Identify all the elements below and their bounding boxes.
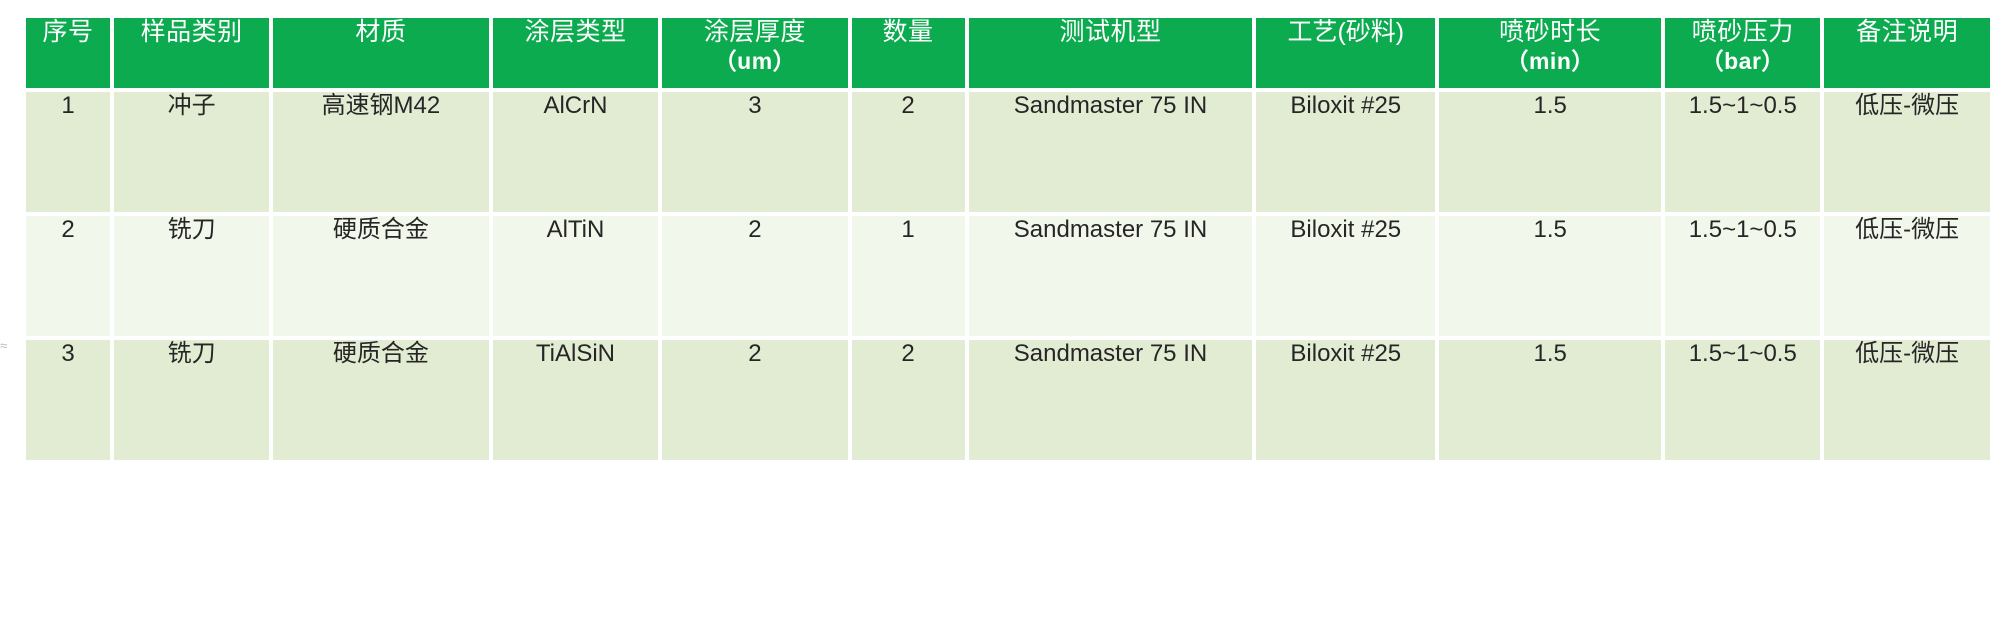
cell-test-machine[interactable]: Sandmaster 75 IN	[969, 340, 1253, 460]
cell-material[interactable]: 硬质合金	[273, 340, 489, 460]
cell-sample-category[interactable]: 铣刀	[114, 216, 269, 336]
table-row[interactable]: 1 冲子 高速钢M42 AlCrN 3 2 Sandmaster 75 IN B…	[26, 92, 1990, 212]
cell-coating-type[interactable]: AlCrN	[493, 92, 659, 212]
cell-material[interactable]: 硬质合金	[273, 216, 489, 336]
table-header: 序号 样品类别 材质 涂层类型 涂层厚度 （um） 数量	[26, 18, 1990, 88]
column-header-test-machine[interactable]: 测试机型	[969, 18, 1253, 88]
cell-quantity[interactable]: 2	[852, 92, 965, 212]
cell-coating-type[interactable]: AlTiN	[493, 216, 659, 336]
header-row: 序号 样品类别 材质 涂层类型 涂层厚度 （um） 数量	[26, 18, 1990, 88]
column-header-sample-category[interactable]: 样品类别	[114, 18, 269, 88]
cell-blast-pressure[interactable]: 1.5~1~0.5	[1665, 92, 1820, 212]
cell-blast-pressure[interactable]: 1.5~1~0.5	[1665, 340, 1820, 460]
column-header-material[interactable]: 材质	[273, 18, 489, 88]
cell-quantity[interactable]: 1	[852, 216, 965, 336]
cell-coating-thickness[interactable]: 3	[662, 92, 847, 212]
column-header-index[interactable]: 序号	[26, 18, 110, 88]
sample-plan-table: 序号 样品类别 材质 涂层类型 涂层厚度 （um） 数量	[22, 14, 1994, 464]
column-header-label: 数量	[883, 18, 934, 46]
cell-blast-pressure[interactable]: 1.5~1~0.5	[1665, 216, 1820, 336]
cell-test-machine[interactable]: Sandmaster 75 IN	[969, 216, 1253, 336]
column-header-blast-pressure[interactable]: 喷砂压力 （bar）	[1665, 18, 1820, 88]
cell-blast-time[interactable]: 1.5	[1439, 216, 1661, 336]
column-header-label: 喷砂压力	[1692, 18, 1794, 46]
table-row[interactable]: 3 铣刀 硬质合金 TiAlSiN 2 2 Sandmaster 75 IN B…	[26, 340, 1990, 460]
cell-sample-category[interactable]: 冲子	[114, 92, 269, 212]
cell-sample-category[interactable]: 铣刀	[114, 340, 269, 460]
cell-test-machine[interactable]: Sandmaster 75 IN	[969, 92, 1253, 212]
cell-coating-thickness[interactable]: 2	[662, 216, 847, 336]
cell-quantity[interactable]: 2	[852, 340, 965, 460]
column-header-quantity[interactable]: 数量	[852, 18, 965, 88]
column-header-process-media[interactable]: 工艺(砂料)	[1256, 18, 1435, 88]
column-header-unit: （min）	[1439, 48, 1661, 75]
cell-coating-type[interactable]: TiAlSiN	[493, 340, 659, 460]
cell-remark[interactable]: 低压-微压	[1824, 216, 1990, 336]
column-header-label: 喷砂时长	[1499, 18, 1601, 46]
cell-coating-thickness[interactable]: 2	[662, 340, 847, 460]
cell-material[interactable]: 高速钢M42	[273, 92, 489, 212]
cell-index[interactable]: 1	[26, 92, 110, 212]
page-edge-artifact: ≈≈	[0, 340, 7, 366]
cell-index[interactable]: 3	[26, 340, 110, 460]
cell-remark[interactable]: 低压-微压	[1824, 92, 1990, 212]
column-header-label: 涂层厚度	[704, 18, 806, 46]
column-header-coating-thickness[interactable]: 涂层厚度 （um）	[662, 18, 847, 88]
cell-index[interactable]: 2	[26, 216, 110, 336]
column-header-label: 材质	[355, 18, 406, 46]
column-header-unit: （bar）	[1665, 48, 1820, 75]
cell-remark[interactable]: 低压-微压	[1824, 340, 1990, 460]
cell-process-media[interactable]: Biloxit #25	[1256, 340, 1435, 460]
cell-blast-time[interactable]: 1.5	[1439, 92, 1661, 212]
column-header-remark[interactable]: 备注说明	[1824, 18, 1990, 88]
column-header-coating-type[interactable]: 涂层类型	[493, 18, 659, 88]
column-header-label: 样品类别	[141, 18, 243, 46]
table-row[interactable]: 2 铣刀 硬质合金 AlTiN 2 1 Sandmaster 75 IN Bil…	[26, 216, 1990, 336]
spreadsheet-canvas: ≈≈ 序号 样品类别 材质	[0, 0, 2015, 637]
cell-process-media[interactable]: Biloxit #25	[1256, 92, 1435, 212]
table-body: 1 冲子 高速钢M42 AlCrN 3 2 Sandmaster 75 IN B…	[26, 92, 1990, 460]
column-header-label: 涂层类型	[524, 18, 626, 46]
column-header-blast-time[interactable]: 喷砂时长 （min）	[1439, 18, 1661, 88]
column-header-label: 工艺(砂料)	[1287, 18, 1404, 46]
column-header-unit: （um）	[662, 48, 847, 75]
column-header-label: 测试机型	[1059, 18, 1161, 46]
column-header-label: 序号	[43, 18, 94, 46]
cell-process-media[interactable]: Biloxit #25	[1256, 216, 1435, 336]
column-header-label: 备注说明	[1856, 18, 1958, 46]
cell-blast-time[interactable]: 1.5	[1439, 340, 1661, 460]
